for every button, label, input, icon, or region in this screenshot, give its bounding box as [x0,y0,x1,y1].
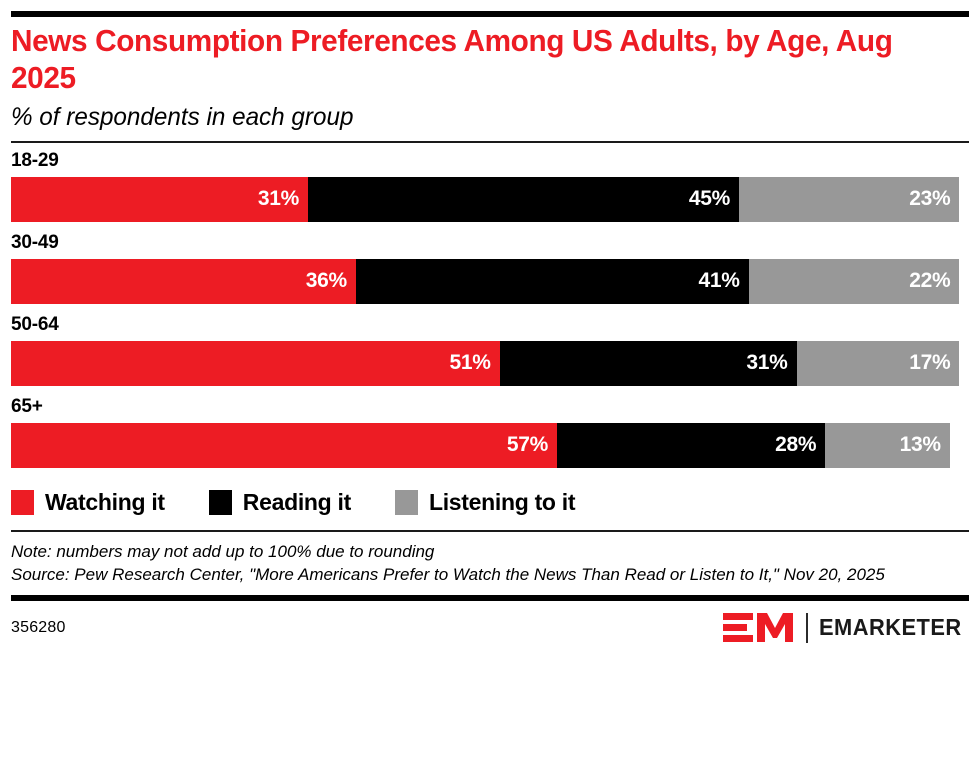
emarketer-monogram-icon [723,611,795,645]
chart-id: 356280 [11,619,66,637]
chart-legend: Watching it Reading it Listening to it [11,479,969,530]
bar-value-label: 28% [775,433,816,457]
bar-segment-watching[interactable]: 31% [11,177,308,222]
bar-segment-reading[interactable]: 31% [500,341,797,386]
bar-value-label: 51% [449,351,490,375]
bar-category-label: 30-49 [11,233,969,252]
bar-value-label: 17% [909,351,950,375]
legend-item-reading[interactable]: Reading it [209,489,351,516]
bar-group-30-49: 30-49 36% 41% 22% [11,233,969,304]
legend-item-listening[interactable]: Listening to it [395,489,575,516]
stacked-bar-track: 31% 45% 23% [11,177,969,222]
logo-divider [806,613,808,643]
bar-segment-reading[interactable]: 41% [356,259,749,304]
stacked-bar-track: 57% 28% 13% [11,423,969,468]
bar-category-label: 18-29 [11,151,969,170]
bar-segment-watching[interactable]: 57% [11,423,557,468]
legend-swatch-listening [395,490,418,515]
bar-value-label: 57% [507,433,548,457]
page-title: News Consumption Preferences Among US Ad… [11,23,931,96]
bar-group-18-29: 18-29 31% 45% 23% [11,151,969,222]
bar-segment-reading[interactable]: 45% [308,177,739,222]
bar-segment-listening[interactable]: 17% [797,341,960,386]
chart-footer: 356280 EMARKETER [11,601,969,645]
chart-container: News Consumption Preferences Among US Ad… [0,11,980,760]
legend-label-listening: Listening to it [429,489,575,516]
bar-value-label: 36% [306,269,347,293]
bar-value-label: 23% [909,187,950,211]
chart-subtitle: % of respondents in each group [11,103,940,132]
bar-value-label: 41% [699,269,740,293]
bar-segment-listening[interactable]: 22% [749,259,960,304]
legend-item-watching[interactable]: Watching it [11,489,165,516]
bar-segment-watching[interactable]: 36% [11,259,356,304]
legend-swatch-reading [209,490,232,515]
chart-source: Source: Pew Research Center, "More Ameri… [11,564,941,587]
legend-swatch-watching [11,490,34,515]
bar-value-label: 31% [258,187,299,211]
bar-value-label: 22% [909,269,950,293]
bar-segment-watching[interactable]: 51% [11,341,500,386]
emarketer-logo[interactable]: EMARKETER [723,611,969,645]
bar-segment-listening[interactable]: 23% [739,177,959,222]
bar-segment-reading[interactable]: 28% [557,423,825,468]
bar-category-label: 65+ [11,397,969,416]
chart-header: News Consumption Preferences Among US Ad… [11,17,969,132]
footnotes: Note: numbers may not add up to 100% due… [11,532,969,595]
legend-label-reading: Reading it [243,489,351,516]
brand-name: EMARKETER [819,614,962,641]
legend-label-watching: Watching it [45,489,165,516]
bar-group-65-plus: 65+ 57% 28% 13% [11,397,969,468]
chart-note: Note: numbers may not add up to 100% due… [11,541,941,564]
bar-value-label: 31% [746,351,787,375]
bar-group-50-64: 50-64 51% 31% 17% [11,315,969,386]
bar-value-label: 45% [689,187,730,211]
stacked-bar-track: 51% 31% 17% [11,341,969,386]
bar-segment-listening[interactable]: 13% [825,423,950,468]
bar-value-label: 13% [900,433,941,457]
stacked-bar-track: 36% 41% 22% [11,259,969,304]
bar-category-label: 50-64 [11,315,969,334]
bars-area: 18-29 31% 45% 23% 30-49 36% 41% 22% 50-6… [11,143,969,468]
